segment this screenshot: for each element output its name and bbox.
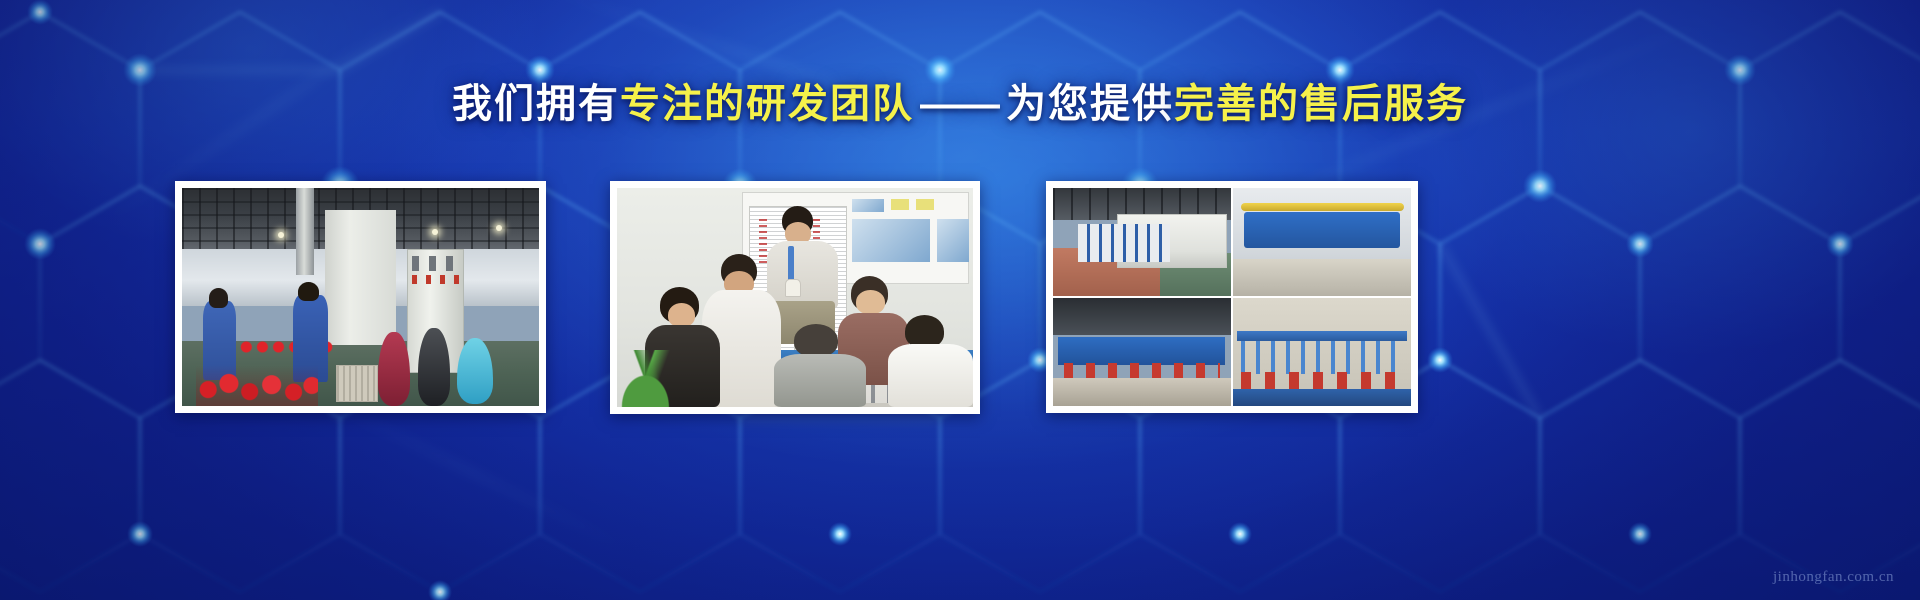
person-seated-right	[888, 315, 973, 407]
collage-divider-horizontal	[1053, 296, 1411, 299]
photo-content	[617, 188, 973, 407]
product-vase-black	[418, 328, 450, 406]
photo-content	[182, 188, 539, 406]
collage-quadrant-bottom-left	[1053, 298, 1231, 406]
badge	[785, 279, 801, 297]
oven-door-row	[1078, 224, 1170, 263]
hanger-hooks	[1241, 341, 1404, 373]
photo-equipment-collage	[1053, 188, 1411, 406]
lanyard	[788, 246, 794, 281]
collage-quadrant-top-left	[1053, 188, 1231, 296]
yellow-pipe	[1241, 203, 1404, 211]
hero-banner: 我们拥有专注的研发团队——为您提供完善的售后服务	[0, 0, 1920, 600]
roof-structure	[1053, 298, 1231, 335]
control-knobs	[412, 256, 458, 271]
person-head	[794, 324, 838, 357]
worker-head	[209, 288, 229, 308]
floor	[1053, 378, 1231, 406]
overhead-rail	[1237, 331, 1407, 342]
person-shirt	[888, 344, 973, 407]
photo-card-production-line[interactable]	[175, 181, 546, 413]
headline-segment-2: 专注的研发团队	[620, 82, 914, 126]
headline-dash: ——	[914, 82, 1006, 126]
ceiling-lamp-icon	[278, 232, 284, 238]
blue-conveyor-rail	[1058, 337, 1225, 365]
storage-crate	[336, 365, 379, 402]
poster-diagram	[852, 219, 930, 263]
person-face	[856, 290, 884, 314]
photo-team-meeting	[617, 188, 973, 407]
person-shirt	[774, 354, 867, 407]
banner-headline: 我们拥有专注的研发团队——为您提供完善的售后服务	[0, 84, 1920, 124]
product-vase-cyan	[457, 338, 493, 403]
headline-segment-1: 我们拥有	[452, 82, 620, 126]
person-back-view	[774, 324, 867, 407]
photo-card-team-meeting[interactable]	[610, 181, 980, 414]
person-head	[905, 315, 944, 348]
headline-segment-4: 完善的售后服务	[1174, 82, 1468, 126]
exhaust-stack	[296, 188, 314, 275]
poster-diagram	[937, 219, 969, 263]
site-watermark: jinhongfan.com.cn	[1773, 569, 1894, 586]
conveyor-base	[1233, 389, 1411, 406]
poster-badge	[916, 199, 934, 210]
poster-badge	[891, 199, 909, 210]
headline-segment-3: 为您提供	[1006, 82, 1174, 126]
red-fixtures	[1064, 363, 1220, 378]
worker-head	[298, 282, 319, 302]
potted-palm	[617, 350, 688, 407]
collage-quadrant-bottom-right	[1233, 298, 1411, 406]
photo-content	[1053, 188, 1411, 406]
photo-production-line	[182, 188, 539, 406]
floor	[1233, 259, 1411, 296]
red-product-pile	[196, 365, 317, 406]
photo-gallery	[0, 181, 1920, 415]
photo-card-equipment-collage[interactable]	[1046, 181, 1418, 413]
curing-oven	[325, 210, 396, 345]
person-face	[668, 303, 695, 327]
blue-tunnel-oven	[1244, 212, 1400, 249]
collage-quadrant-top-right	[1233, 188, 1411, 296]
poster-photo	[852, 199, 884, 212]
indicator-lights	[412, 275, 458, 284]
